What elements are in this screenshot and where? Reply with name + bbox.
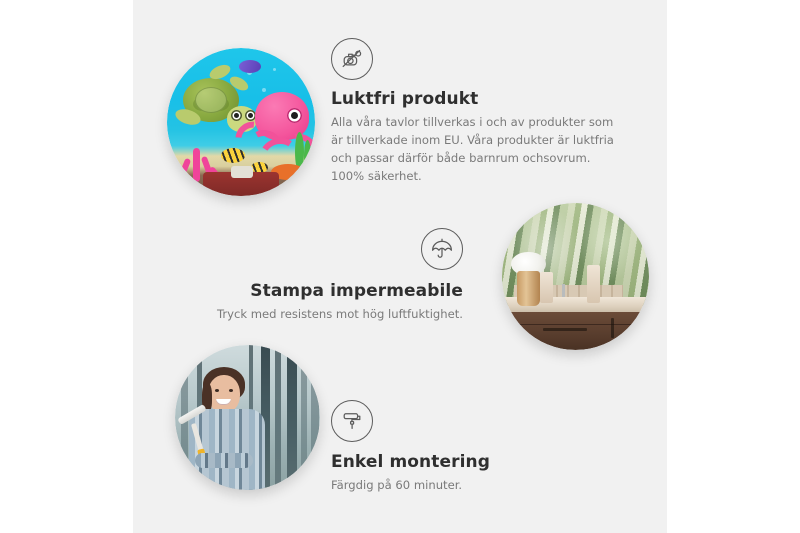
feature-title: Stampa impermeabile <box>189 281 463 301</box>
yellow-fish-icon <box>221 148 245 163</box>
shipwreck <box>203 172 279 196</box>
painter-disc-inner <box>175 345 320 490</box>
purple-fish-icon <box>239 60 261 73</box>
eye <box>229 389 233 392</box>
feature-description: Färgdig på 60 minuter. <box>331 477 601 495</box>
feature-block-waterproof-print: Stampa impermeabile Tryck med resistens … <box>189 228 463 324</box>
ocean-disc-inner <box>167 48 315 196</box>
bathroom-botanical-disc <box>502 203 649 350</box>
tree <box>275 345 281 490</box>
infographic-root: Luktfri produkt Alla våra tavlor tillver… <box>0 0 800 533</box>
feature-description: Tryck med resistens mot hög luftfuktighe… <box>189 306 463 324</box>
toiletry-bottle <box>587 265 600 303</box>
eye <box>215 389 219 392</box>
feature-title: Enkel montering <box>331 452 601 472</box>
seaweed <box>304 140 311 172</box>
feature-description: Alla våra tavlor tillverkas i och av pro… <box>331 114 627 186</box>
content-panel: Luktfri produkt Alla våra tavlor tillver… <box>133 0 667 533</box>
bubble-icon <box>273 68 276 71</box>
paint-roller-icon <box>331 400 373 442</box>
feature-block-odourless-product: Luktfri produkt Alla våra tavlor tillver… <box>331 38 627 186</box>
bathroom-disc-inner <box>502 203 649 350</box>
no-fragrance-icon <box>331 38 373 80</box>
feature-block-easy-installation: Enkel montering Färgdig på 60 minuter. <box>331 400 601 495</box>
face <box>208 375 240 413</box>
vanity-drawer-line <box>502 324 649 325</box>
tree <box>311 345 319 490</box>
bubble-icon <box>262 88 266 92</box>
feature-title: Luktfri produkt <box>331 89 627 109</box>
painter-forest-disc <box>175 345 320 490</box>
ribbed-vase <box>517 271 541 306</box>
crossed-arms <box>195 453 253 468</box>
tree <box>287 345 297 490</box>
umbrella-icon <box>421 228 463 270</box>
ocean-cartoon-disc <box>167 48 315 196</box>
tree <box>301 345 307 490</box>
turtle-eye <box>231 110 242 121</box>
octopus-eye <box>287 108 302 123</box>
wood-vanity <box>502 312 649 350</box>
toiletry-bottle <box>540 272 553 303</box>
